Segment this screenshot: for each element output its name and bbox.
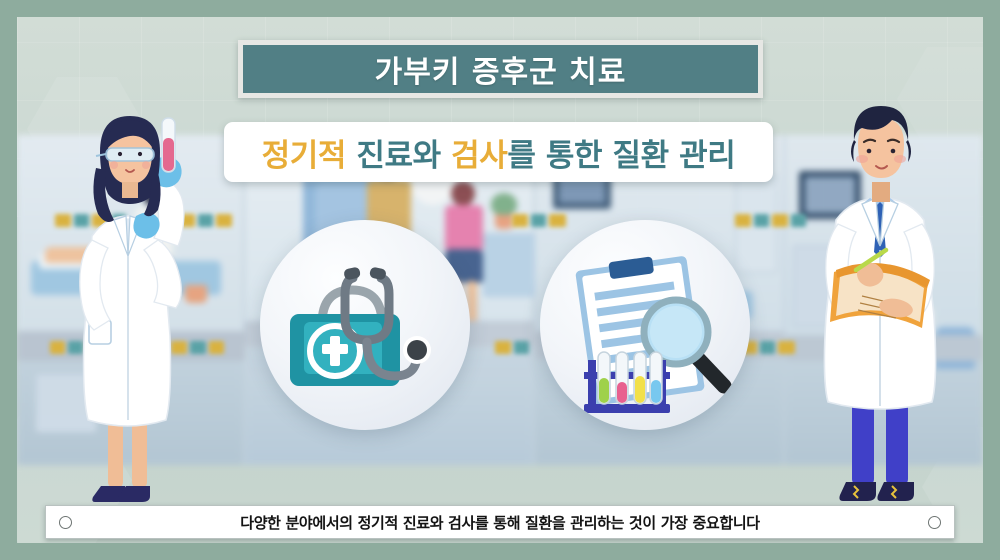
medical-bag-stethoscope-icon [260, 220, 470, 430]
feature-circle-exam[interactable] [540, 220, 750, 430]
circle-marker-icon [59, 516, 72, 529]
clipboard-magnifier-testtube-icon [540, 220, 750, 430]
slide-stage: 가부키 증후군 치료 정기적 진료와 검사를 통한 질환 관리 [0, 0, 1000, 560]
caption-text: 다양한 분야에서의 정기적 진료와 검사를 통해 질환을 관리하는 것이 가장 … [72, 512, 928, 533]
subtitle: 정기적 진료와 검사를 통한 질환 관리 [262, 130, 736, 175]
lab-technician-illustration [52, 108, 202, 508]
title-plate: 가부키 증후군 치료 [238, 40, 763, 98]
lab-technician-character [52, 108, 202, 508]
subtitle-segment-4: 를 통한 질환 관리 [507, 138, 735, 174]
subtitle-segment-2: 진료와 [356, 138, 451, 174]
subtitle-segment-3: 검사 [451, 138, 507, 174]
subtitle-segment-1: 정기적 [262, 138, 357, 174]
caption-bar: 다양한 분야에서의 정기적 진료와 검사를 통해 질환을 관리하는 것이 가장 … [45, 505, 955, 539]
page-title: 가부키 증후군 치료 [375, 47, 627, 91]
doctor-illustration [800, 100, 960, 512]
circle-marker-icon [928, 516, 941, 529]
doctor-character [800, 100, 960, 512]
subtitle-plate: 정기적 진료와 검사를 통한 질환 관리 [224, 122, 773, 182]
feature-circle-treatment[interactable] [260, 220, 470, 430]
background-signage [495, 340, 529, 354]
